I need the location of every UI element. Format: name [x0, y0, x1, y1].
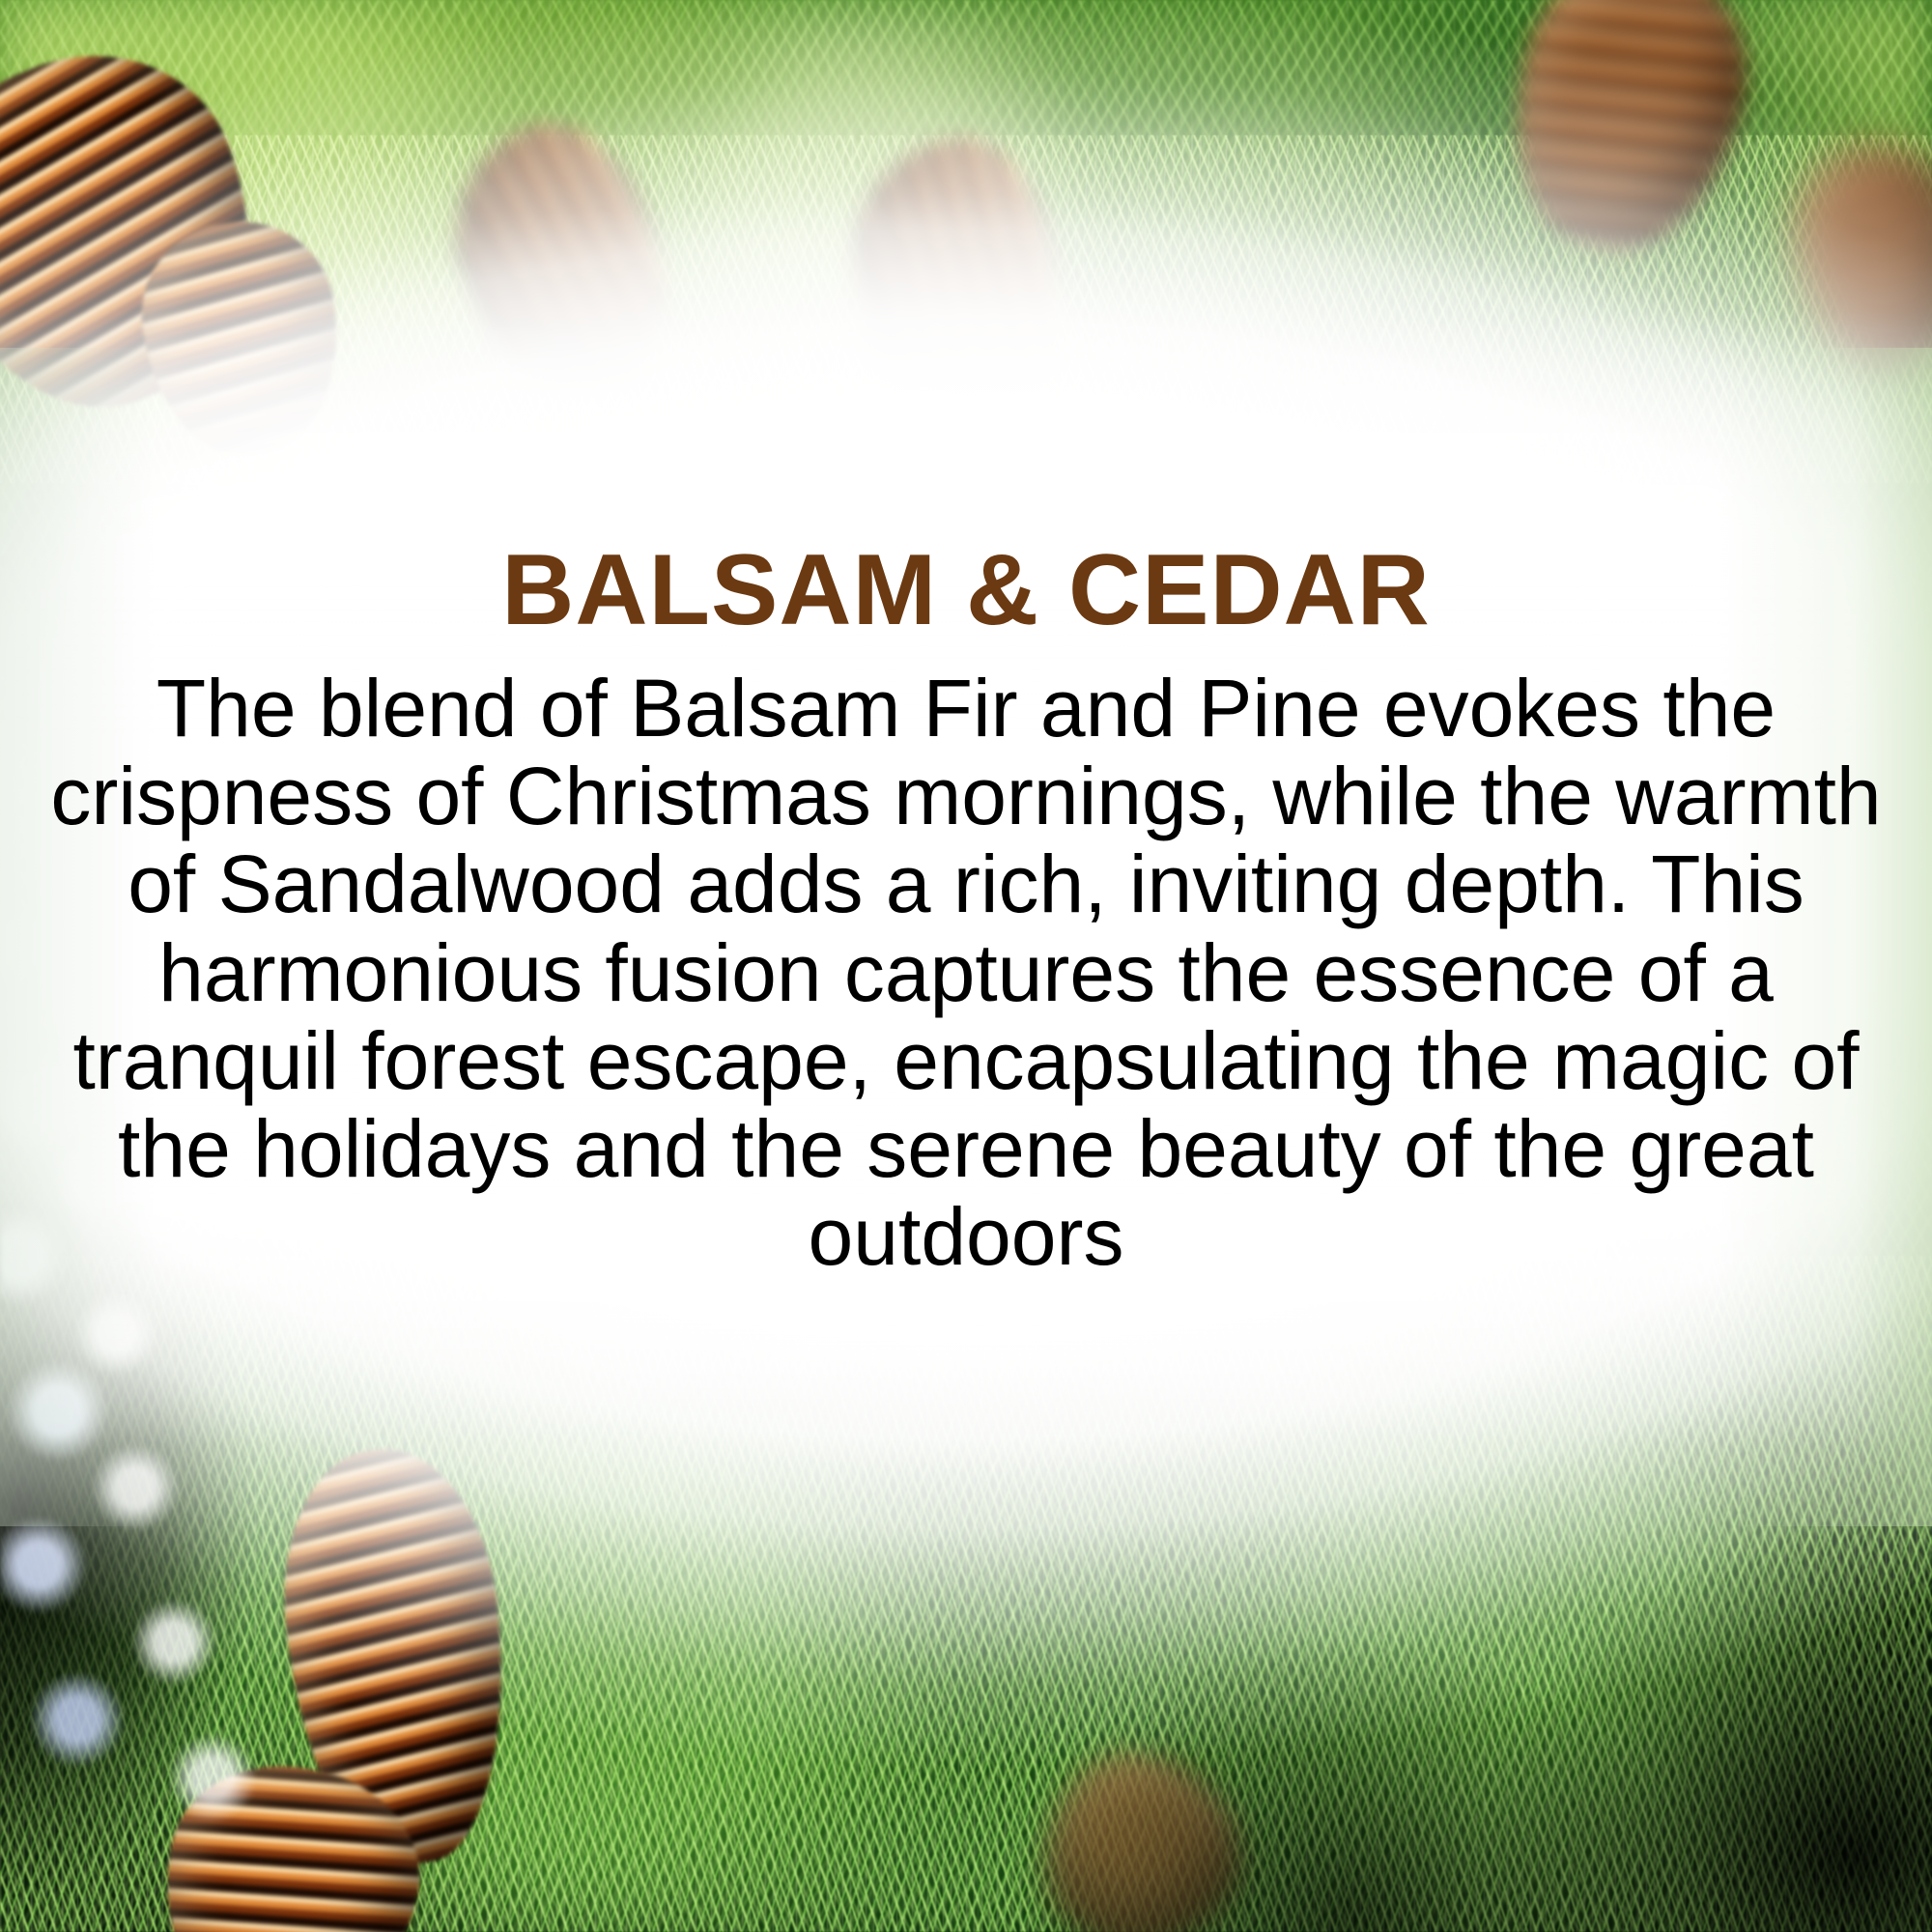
scent-description-paragraph: The blend of Balsam Fir and Pine evokes …: [19, 665, 1913, 1281]
text-block: BALSAM & CEDAR The blend of Balsam Fir a…: [0, 537, 1932, 1281]
scent-description-card: BALSAM & CEDAR The blend of Balsam Fir a…: [0, 0, 1932, 1932]
page-title: BALSAM & CEDAR: [0, 537, 1932, 643]
